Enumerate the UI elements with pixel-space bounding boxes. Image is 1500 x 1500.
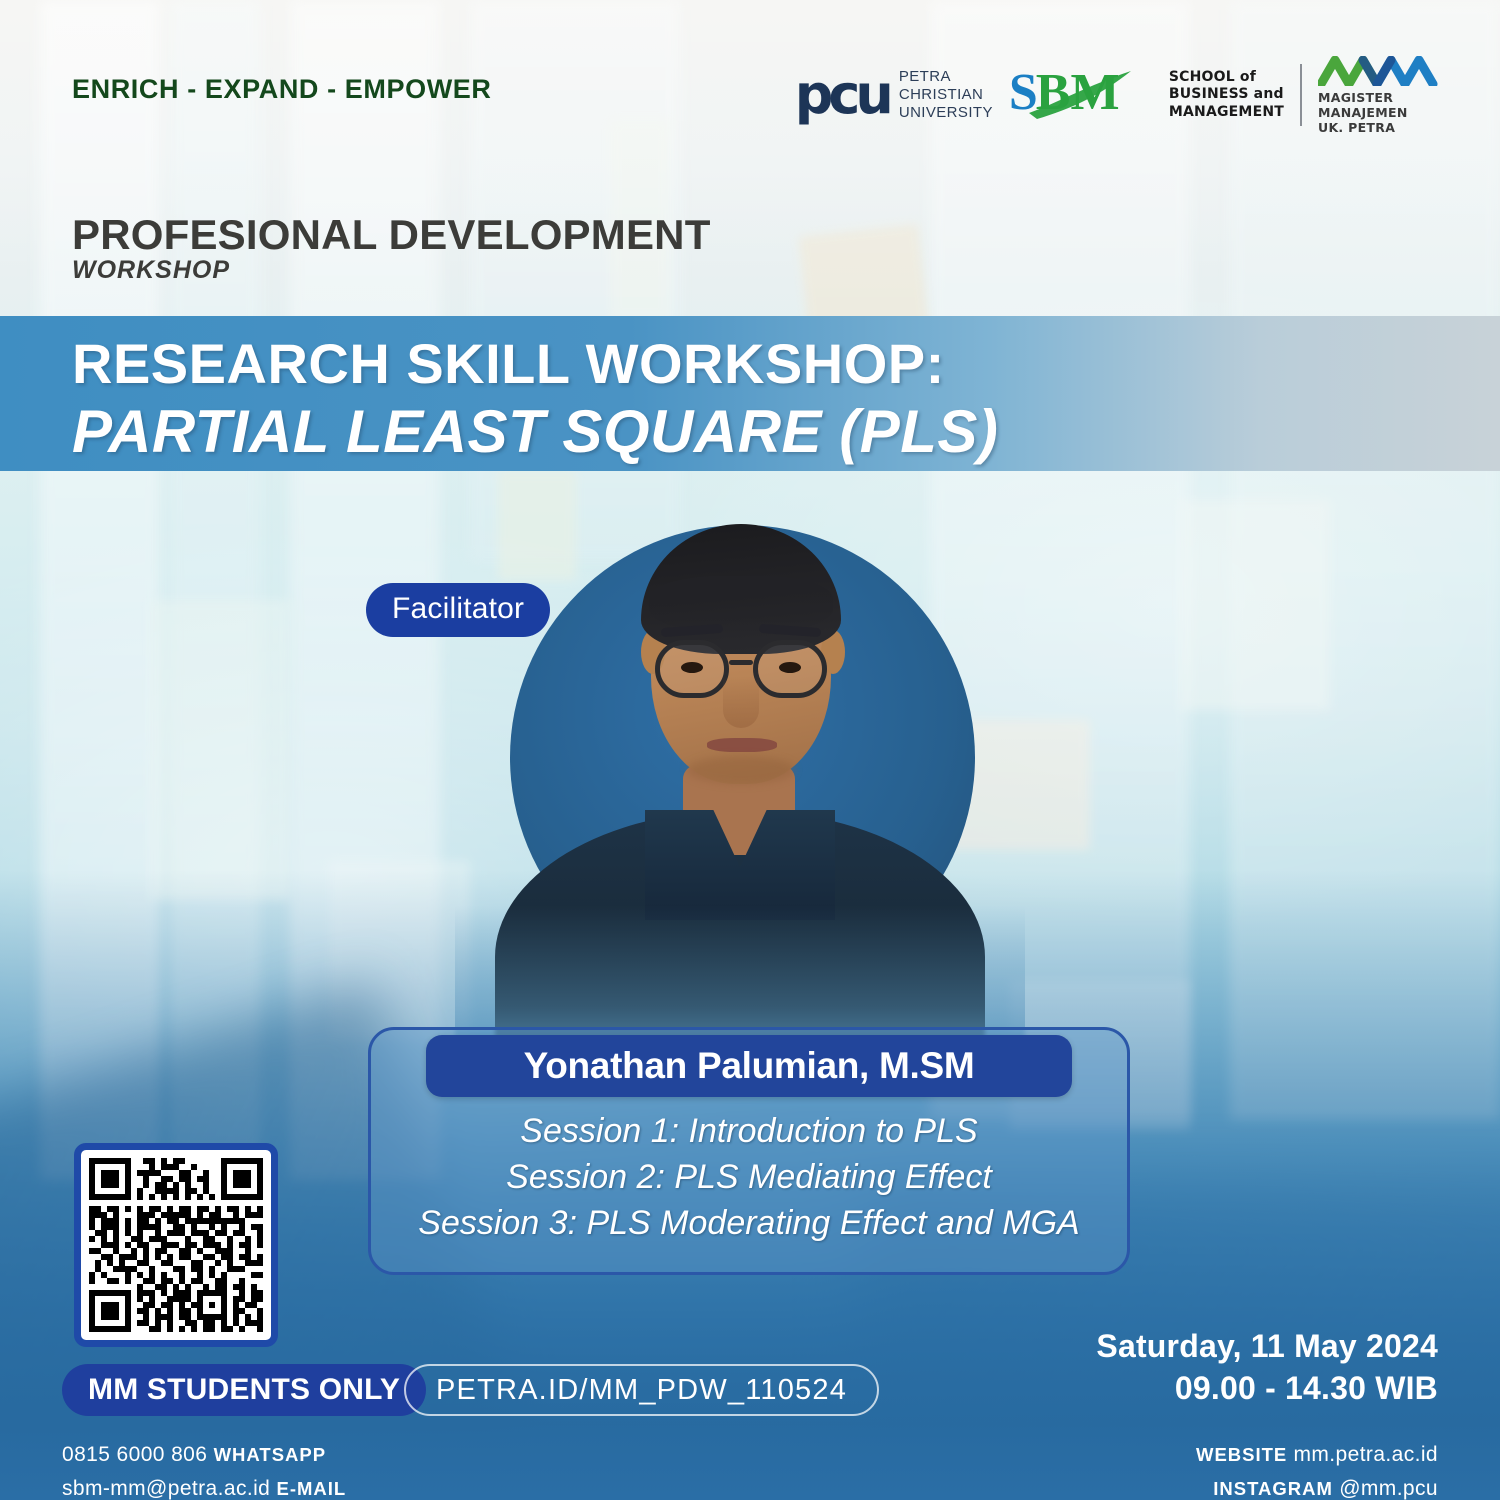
- event-kicker: PROFESIONAL DEVELOPMENT: [72, 214, 711, 256]
- instagram-handle: @mm.pcu: [1339, 1477, 1438, 1500]
- mm-zigzag-icon: [1318, 56, 1440, 86]
- session-item: Session 2: PLS Mediating Effect: [368, 1154, 1130, 1200]
- pcu-logo-line1: PETRA: [899, 68, 993, 86]
- mm-logo-text: MAGISTER MANAJEMEN UK. PETRA: [1318, 90, 1440, 135]
- whatsapp-number: 0815 6000 806: [62, 1443, 207, 1466]
- sbm-logo-line2: BUSINESS and: [1169, 86, 1284, 104]
- contact-instagram: INSTAGRAM @mm.pcu: [1196, 1472, 1438, 1500]
- mm-logo-line1: MAGISTER: [1318, 90, 1440, 105]
- contact-email: sbm-mm@petra.ac.id E-MAIL: [62, 1472, 346, 1500]
- session-list: Session 1: Introduction to PLS Session 2…: [368, 1108, 1130, 1247]
- title-line-2: PARTIAL LEAST SQUARE (PLS): [72, 402, 998, 462]
- contact-whatsapp: 0815 6000 806 WHATSAPP: [62, 1438, 346, 1472]
- website-address: mm.petra.ac.id: [1294, 1443, 1438, 1466]
- speaker-photo: [455, 480, 1025, 1040]
- pcu-wordmark-icon: pcu: [795, 68, 889, 122]
- pcu-logo-text: PETRA CHRISTIAN UNIVERSITY: [899, 68, 993, 123]
- sbm-letter-s: S: [1009, 64, 1038, 121]
- qr-code-icon: [89, 1158, 263, 1332]
- mm-logo-line3: UK. PETRA: [1318, 120, 1440, 135]
- contact-left: 0815 6000 806 WHATSAPP sbm-mm@petra.ac.i…: [62, 1438, 346, 1500]
- whatsapp-label: WHATSAPP: [214, 1444, 327, 1465]
- brand-tagline: ENRICH - EXPAND - EMPOWER: [72, 74, 492, 105]
- sbm-logo-text: SCHOOL of BUSINESS and MANAGEMENT: [1169, 69, 1284, 122]
- facilitator-badge: Facilitator: [366, 583, 550, 637]
- sbm-logo-line1: SCHOOL of: [1169, 69, 1284, 87]
- email-address: sbm-mm@petra.ac.id: [62, 1477, 270, 1500]
- sbm-logo-line3: MANAGEMENT: [1169, 104, 1284, 122]
- event-date: Saturday, 11 May 2024: [1096, 1326, 1438, 1368]
- sbm-wordmark-icon: SBM: [1009, 63, 1159, 127]
- pcu-logo-line3: UNIVERSITY: [899, 104, 993, 122]
- audience-badge: MM STUDENTS ONLY: [62, 1364, 426, 1416]
- session-item: Session 3: PLS Moderating Effect and MGA: [368, 1200, 1130, 1246]
- pcu-logo: pcu PETRA CHRISTIAN UNIVERSITY: [795, 68, 993, 123]
- email-label: E-MAIL: [276, 1478, 346, 1499]
- sbm-logo: SBM SCHOOL of BUSINESS and MANAGEMENT: [1009, 63, 1284, 127]
- mm-logo-line2: MANAJEMEN: [1318, 105, 1440, 120]
- instagram-label: INSTAGRAM: [1213, 1478, 1333, 1499]
- event-schedule: Saturday, 11 May 2024 09.00 - 14.30 WIB: [1096, 1326, 1438, 1409]
- contact-website: WEBSITE mm.petra.ac.id: [1196, 1438, 1438, 1472]
- event-kicker-sub: WORKSHOP: [72, 256, 230, 285]
- event-time: 09.00 - 14.30 WIB: [1096, 1368, 1438, 1410]
- pcu-logo-line2: CHRISTIAN: [899, 86, 993, 104]
- registration-qr-code[interactable]: [74, 1143, 278, 1347]
- registration-link[interactable]: PETRA.ID/MM_PDW_110524: [404, 1364, 879, 1416]
- logo-row: pcu PETRA CHRISTIAN UNIVERSITY SBM SCHOO…: [795, 52, 1440, 138]
- logo-divider: [1300, 64, 1302, 126]
- speaker-name: Yonathan Palumian, M.SM: [426, 1035, 1072, 1097]
- session-item: Session 1: Introduction to PLS: [368, 1108, 1130, 1154]
- contact-right: WEBSITE mm.petra.ac.id INSTAGRAM @mm.pcu: [1196, 1438, 1438, 1500]
- event-poster: ENRICH - EXPAND - EMPOWER pcu PETRA CHRI…: [0, 0, 1500, 1500]
- mm-logo: MAGISTER MANAJEMEN UK. PETRA: [1318, 56, 1440, 135]
- website-label: WEBSITE: [1196, 1444, 1287, 1465]
- sbm-letters-bm: BM: [1036, 64, 1120, 121]
- title-band: RESEARCH SKILL WORKSHOP: PARTIAL LEAST S…: [0, 316, 1500, 471]
- title-line-1: RESEARCH SKILL WORKSHOP:: [72, 336, 945, 392]
